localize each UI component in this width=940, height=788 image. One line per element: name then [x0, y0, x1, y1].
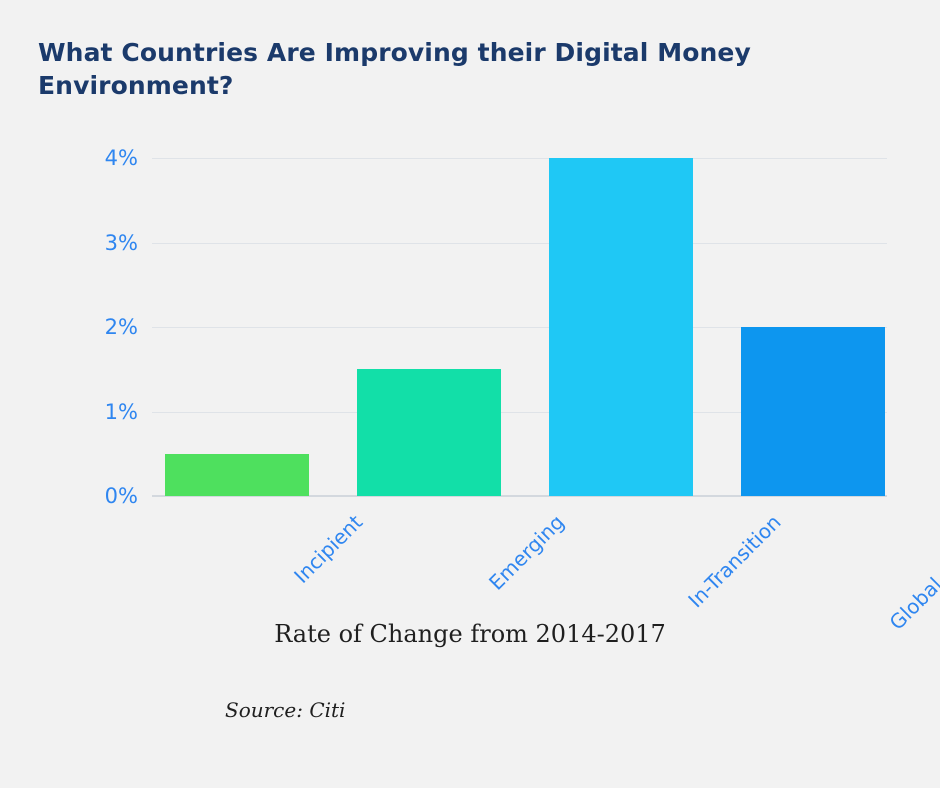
ytick-label-0: 0% [105, 484, 138, 508]
bar-incipient[interactable] [165, 454, 309, 496]
chart-card: What Countries Are Improving their Digit… [0, 0, 940, 788]
xtick-label-incipient: Incipient [289, 510, 367, 588]
ytick-label-4: 4% [105, 146, 138, 170]
ytick-label-2: 2% [105, 315, 138, 339]
bar-emerging[interactable] [357, 369, 501, 496]
source-note: Source: Citi [225, 698, 345, 722]
ytick-label-1: 1% [105, 400, 138, 424]
xtick-label-global-average: Global Average [885, 510, 940, 635]
bar-global-average[interactable] [741, 327, 885, 496]
bar-in-transition[interactable] [549, 158, 693, 496]
xtick-label-emerging: Emerging [484, 510, 569, 595]
xtick-label-in-transition: In-Transition [683, 510, 785, 612]
ytick-label-3: 3% [105, 231, 138, 255]
chart-title: What Countries Are Improving their Digit… [38, 36, 778, 103]
x-axis-title: Rate of Change from 2014-2017 [0, 620, 940, 648]
bars-group: Incipient Emerging In-Transition Global … [152, 158, 887, 496]
plot-area: 4% 3% 2% 1% 0% Incipient Emerging In-Tra… [152, 158, 887, 496]
